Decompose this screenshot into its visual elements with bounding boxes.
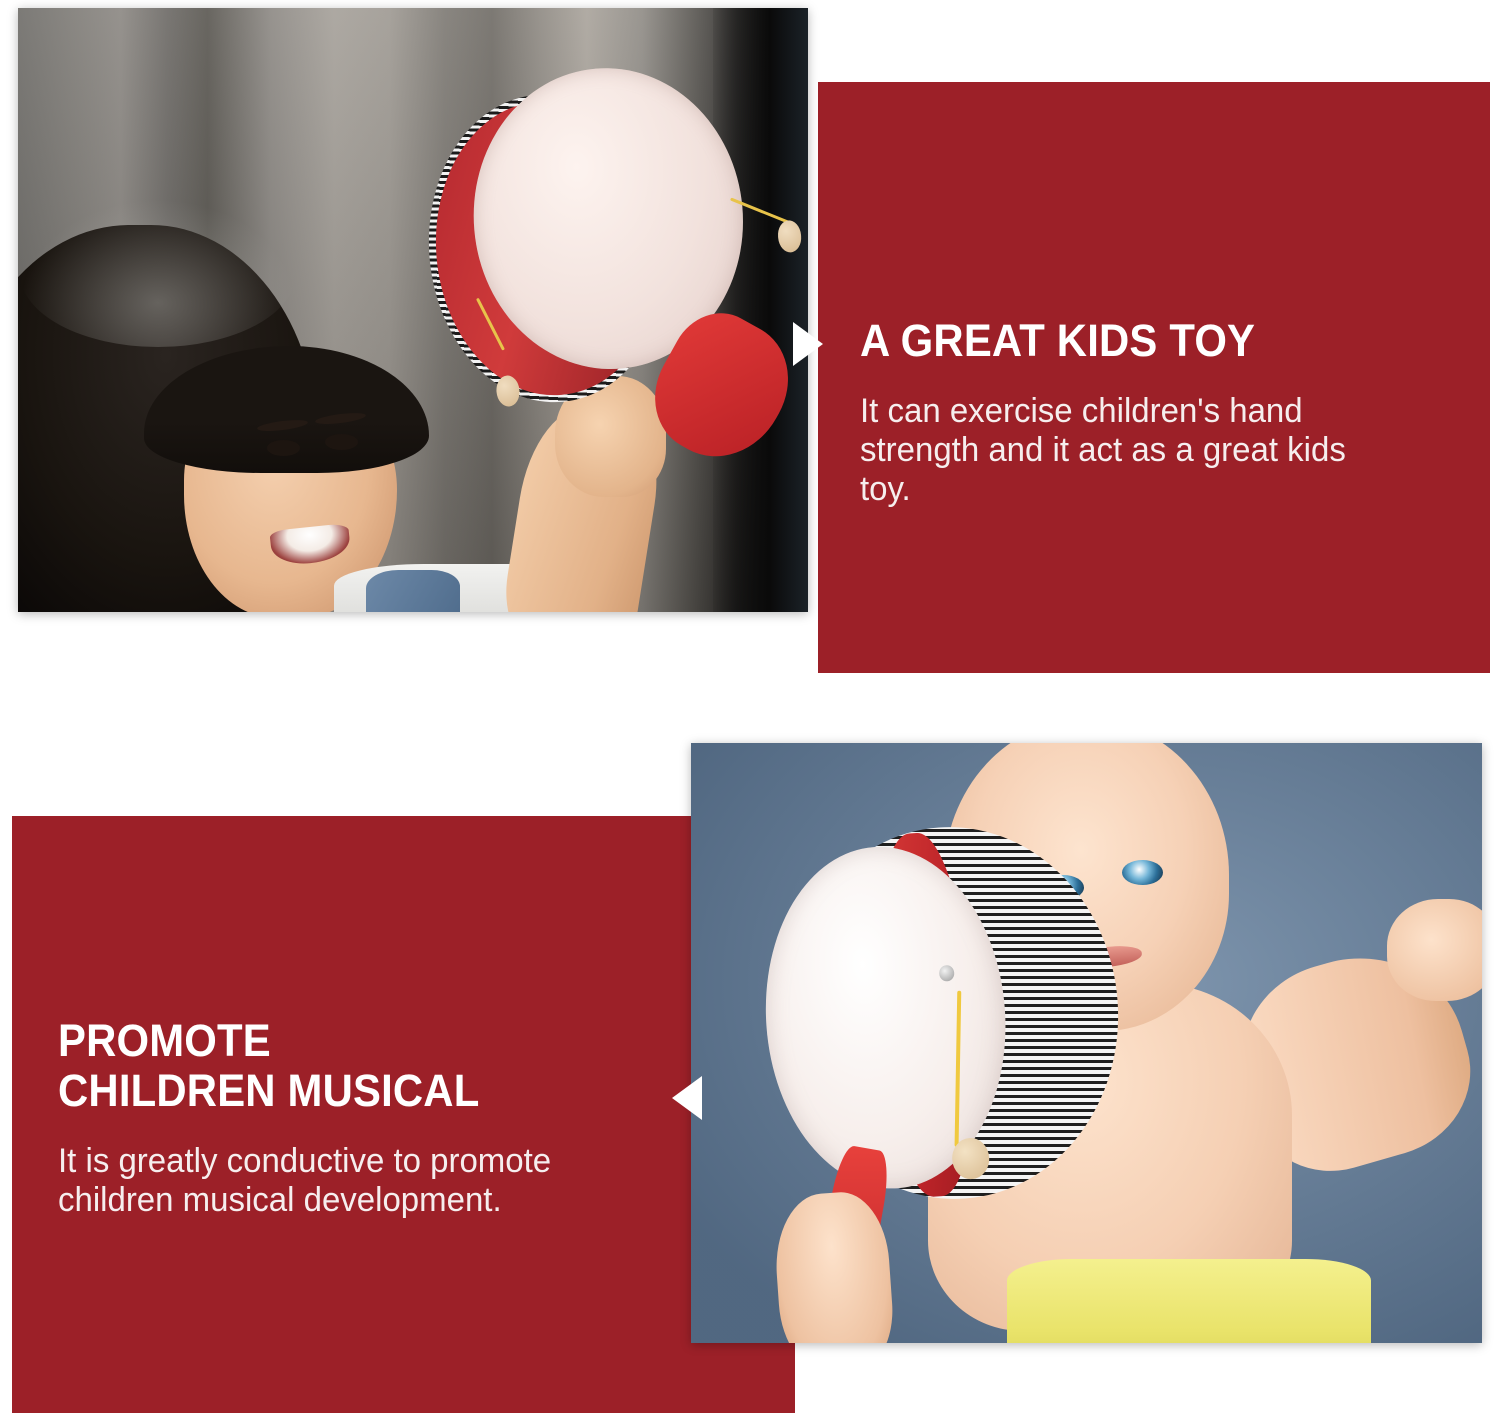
feature-photo-girl-with-drum (18, 8, 808, 612)
feature-body-kids-toy: It can exercise children's hand strength… (860, 392, 1364, 509)
pellet-drum-toy (414, 53, 807, 434)
feature-heading-kids-toy: A GREAT KIDS TOY (860, 316, 1418, 366)
feature-panel-top (818, 82, 1490, 673)
girl-eye-right (325, 434, 358, 450)
feature-heading-promote-musical: PROMOTE CHILDREN MUSICAL (58, 1016, 635, 1116)
girl-eye-left (267, 440, 300, 456)
girl-denim-strap (366, 570, 461, 612)
baby-hand (1387, 899, 1482, 1001)
triangle-left-icon (672, 1076, 702, 1120)
pellet-drum-toy (773, 816, 1130, 1210)
feature-photo-baby-with-drum (691, 743, 1482, 1343)
photo-scene-baby (691, 743, 1482, 1343)
triangle-right-icon (793, 322, 823, 366)
photo-scene-girl (18, 8, 808, 612)
baby-yellow-garment (1007, 1259, 1371, 1343)
feature-body-promote-musical: It is greatly conductive to promote chil… (58, 1142, 562, 1220)
